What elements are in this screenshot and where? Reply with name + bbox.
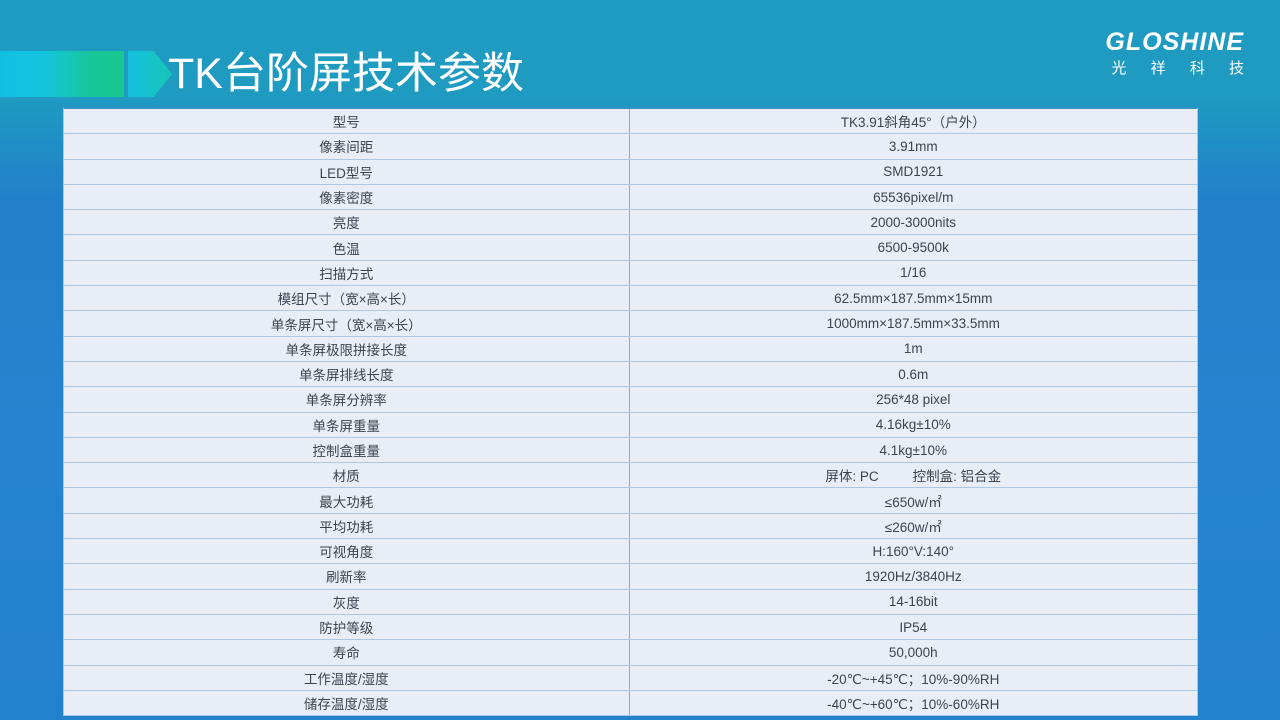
spec-label: 工作温度/湿度	[64, 666, 630, 690]
spec-label: 控制盒重量	[64, 438, 630, 462]
table-row: 像素间距3.91mm	[64, 134, 1197, 159]
spec-value: H:160°V:140°	[630, 539, 1198, 563]
table-row: 单条屏重量4.16kg±10%	[64, 413, 1197, 438]
table-row: 型号TK3.91斜角45°（户外）	[64, 109, 1197, 134]
spec-value: ≤260w/㎡	[630, 514, 1198, 538]
spec-value: 0.6m	[630, 362, 1198, 386]
spec-value: -40℃~+60℃；10%-60%RH	[630, 691, 1198, 715]
spec-value: TK3.91斜角45°（户外）	[630, 109, 1198, 133]
spec-label: 材质	[64, 463, 630, 487]
table-row: 防护等级IP54	[64, 615, 1197, 640]
spec-label: 单条屏尺寸（宽×高×长）	[64, 311, 630, 335]
spec-label: 最大功耗	[64, 488, 630, 512]
spec-label: 刷新率	[64, 564, 630, 588]
table-row: 可视角度H:160°V:140°	[64, 539, 1197, 564]
spec-value: 50,000h	[630, 640, 1198, 664]
table-row: 单条屏尺寸（宽×高×长）1000mm×187.5mm×33.5mm	[64, 311, 1197, 336]
spec-label: 扫描方式	[64, 261, 630, 285]
table-row: 储存温度/湿度-40℃~+60℃；10%-60%RH	[64, 691, 1197, 716]
table-row: LED型号SMD1921	[64, 160, 1197, 185]
table-row: 单条屏分辨率256*48 pixel	[64, 387, 1197, 412]
spec-value: 4.1kg±10%	[630, 438, 1198, 462]
spec-value: 65536pixel/m	[630, 185, 1198, 209]
specifications-table: 型号TK3.91斜角45°（户外）像素间距3.91mmLED型号SMD1921像…	[63, 107, 1198, 716]
spec-value-part-controlbox: 控制盒: 铝合金	[913, 465, 1002, 485]
spec-value: 6500-9500k	[630, 235, 1198, 259]
table-row: 像素密度65536pixel/m	[64, 185, 1197, 210]
spec-label: 灰度	[64, 590, 630, 614]
spec-value: 1m	[630, 337, 1198, 361]
slide-header: TK台阶屏技术参数 GLOSHINE 光 祥 科 技	[0, 0, 1280, 108]
table-row: 最大功耗≤650w/㎡	[64, 488, 1197, 513]
spec-value: 4.16kg±10%	[630, 413, 1198, 437]
spec-label: 亮度	[64, 210, 630, 234]
table-row: 亮度2000-3000nits	[64, 210, 1197, 235]
brand-logo: GLOSHINE 光 祥 科 技	[1105, 28, 1244, 80]
spec-value: 3.91mm	[630, 134, 1198, 158]
spec-value-part-screen: 屏体: PC	[825, 465, 878, 485]
spec-value: 1/16	[630, 261, 1198, 285]
table-row: 刷新率1920Hz/3840Hz	[64, 564, 1197, 589]
spec-label: 模组尺寸（宽×高×长）	[64, 286, 630, 310]
spec-label: LED型号	[64, 160, 630, 184]
table-row: 工作温度/湿度-20℃~+45℃；10%-90%RH	[64, 666, 1197, 691]
spec-value: 14-16bit	[630, 590, 1198, 614]
spec-value: -20℃~+45℃；10%-90%RH	[630, 666, 1198, 690]
logo-subtitle: 光 祥 科 技	[1105, 58, 1254, 80]
spec-label: 可视角度	[64, 539, 630, 563]
table-row: 控制盒重量4.1kg±10%	[64, 438, 1197, 463]
spec-label: 单条屏排线长度	[64, 362, 630, 386]
spec-value: 1920Hz/3840Hz	[630, 564, 1198, 588]
header-arrow-icon	[128, 51, 172, 97]
table-row: 寿命50,000h	[64, 640, 1197, 665]
table-row: 灰度14-16bit	[64, 590, 1197, 615]
table-row: 扫描方式1/16	[64, 261, 1197, 286]
table-row: 模组尺寸（宽×高×长）62.5mm×187.5mm×15mm	[64, 286, 1197, 311]
table-row: 单条屏排线长度0.6m	[64, 362, 1197, 387]
spec-value: 62.5mm×187.5mm×15mm	[630, 286, 1198, 310]
spec-label: 单条屏重量	[64, 413, 630, 437]
spec-label: 单条屏极限拼接长度	[64, 337, 630, 361]
logo-wordmark: GLOSHINE	[1105, 28, 1244, 56]
table-row: 平均功耗≤260w/㎡	[64, 514, 1197, 539]
spec-value: 屏体: PC控制盒: 铝合金	[630, 463, 1198, 487]
spec-label: 平均功耗	[64, 514, 630, 538]
spec-value: 1000mm×187.5mm×33.5mm	[630, 311, 1198, 335]
spec-value: 256*48 pixel	[630, 387, 1198, 411]
spec-label: 色温	[64, 235, 630, 259]
spec-label: 像素密度	[64, 185, 630, 209]
spec-value: 2000-3000nits	[630, 210, 1198, 234]
table-row: 材质屏体: PC控制盒: 铝合金	[64, 463, 1197, 488]
table-row: 色温6500-9500k	[64, 235, 1197, 260]
spec-label: 单条屏分辨率	[64, 387, 630, 411]
spec-label: 储存温度/湿度	[64, 691, 630, 715]
spec-value: ≤650w/㎡	[630, 488, 1198, 512]
spec-label: 型号	[64, 109, 630, 133]
header-accent-bar	[0, 51, 124, 97]
page-title: TK台阶屏技术参数	[168, 46, 524, 102]
spec-value: SMD1921	[630, 160, 1198, 184]
spec-label: 防护等级	[64, 615, 630, 639]
table-row: 单条屏极限拼接长度1m	[64, 337, 1197, 362]
spec-label: 像素间距	[64, 134, 630, 158]
spec-label: 寿命	[64, 640, 630, 664]
spec-value: IP54	[630, 615, 1198, 639]
